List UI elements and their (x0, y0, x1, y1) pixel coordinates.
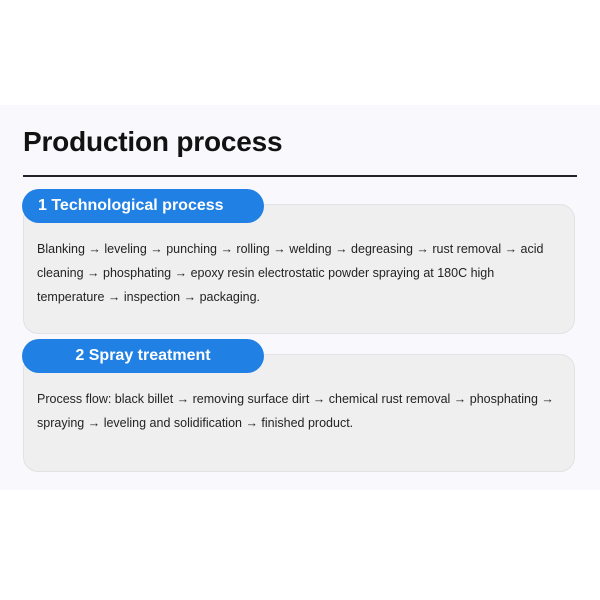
content-panel-inner: Production process 1 Technological proce… (23, 105, 577, 490)
title-divider (23, 175, 577, 177)
process-card-technological-body: Blanking → leveling → punching → rolling… (37, 237, 561, 309)
process-card-spray-treatment-body: Process flow: black billet → removing su… (37, 387, 561, 435)
content-panel: Production process 1 Technological proce… (0, 105, 600, 490)
process-card-technological: 1 Technological process Blanking → level… (23, 204, 575, 334)
badge-spray-treatment: 2 Spray treatment (22, 339, 264, 373)
page-title: Production process (23, 127, 282, 158)
page-root: Production process 1 Technological proce… (0, 0, 600, 600)
badge-technological-process: 1 Technological process (22, 189, 264, 223)
process-card-spray-treatment: 2 Spray treatment Process flow: black bi… (23, 354, 575, 472)
